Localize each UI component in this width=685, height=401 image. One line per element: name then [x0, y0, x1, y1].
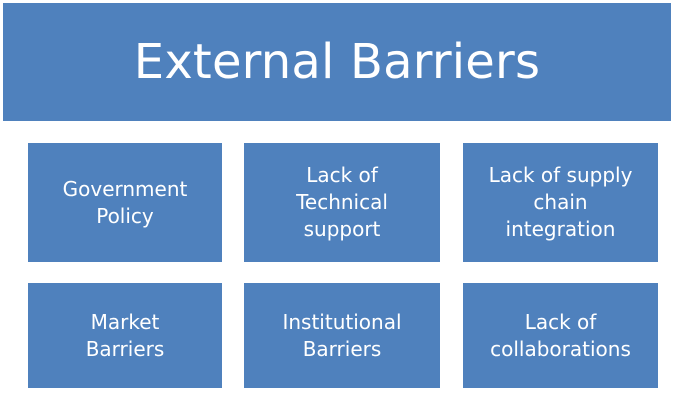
diagram-canvas: External Barriers Government Policy Lack…: [0, 0, 685, 401]
barrier-box-label: Lack of collaborations: [484, 309, 637, 363]
barrier-box-lack-of-technical-support[interactable]: Lack of Technical support: [244, 143, 440, 262]
barrier-box-lack-of-supply-chain-integration[interactable]: Lack of supply chain integration: [463, 143, 658, 262]
barrier-box-institutional-barriers[interactable]: Institutional Barriers: [244, 283, 440, 388]
barrier-box-lack-of-collaborations[interactable]: Lack of collaborations: [463, 283, 658, 388]
barrier-box-label: Lack of Technical support: [290, 162, 394, 243]
banner-external-barriers: External Barriers: [3, 3, 671, 121]
barrier-box-label: Lack of supply chain integration: [483, 162, 639, 243]
page-title: External Barriers: [134, 36, 540, 89]
barrier-box-label: Institutional Barriers: [276, 309, 407, 363]
barrier-box-label: Market Barriers: [80, 309, 171, 363]
barrier-box-government-policy[interactable]: Government Policy: [28, 143, 222, 262]
barrier-box-market-barriers[interactable]: Market Barriers: [28, 283, 222, 388]
barrier-box-label: Government Policy: [57, 176, 194, 230]
